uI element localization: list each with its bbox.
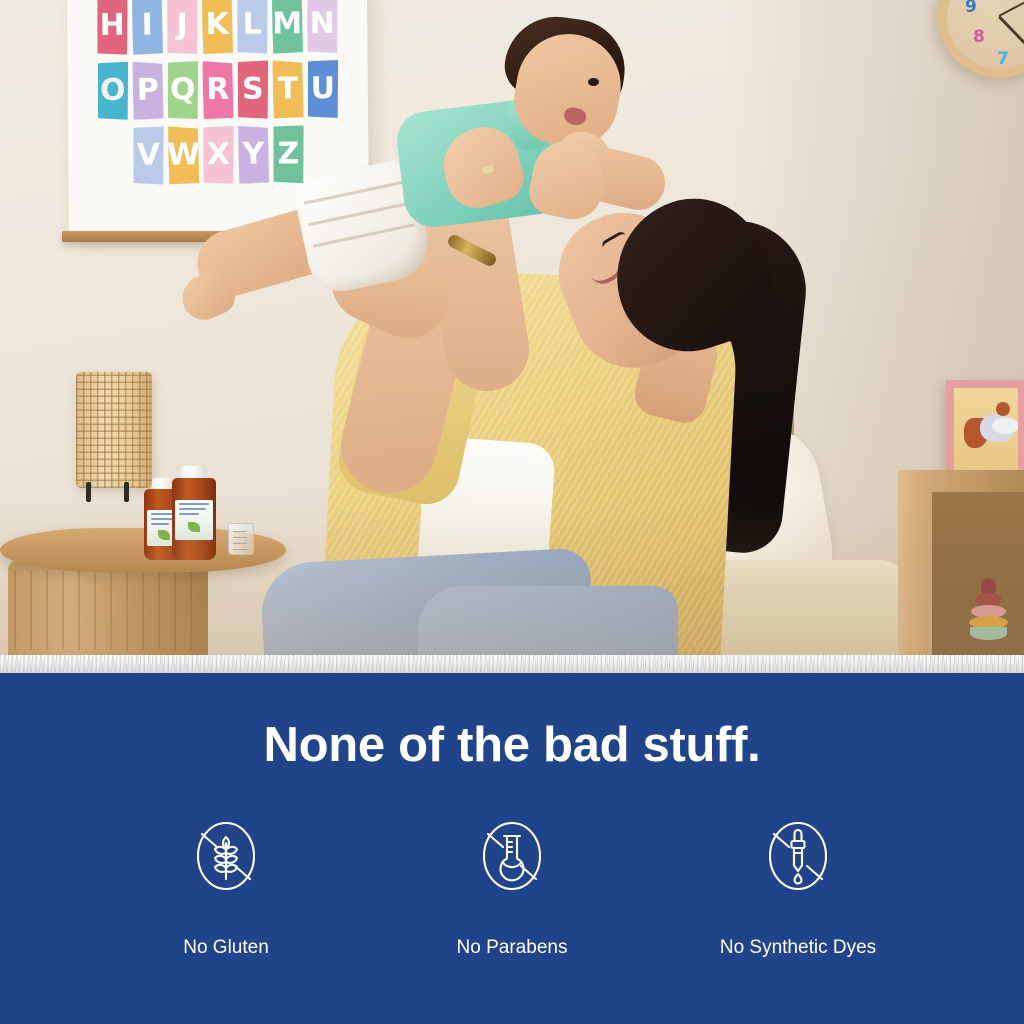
poster-letter-tile: J bbox=[167, 0, 199, 54]
poster-letter-tile: U bbox=[307, 60, 339, 118]
badge-label-no-synthetic-dyes: No Synthetic Dyes bbox=[720, 935, 876, 961]
clock-face: 109876 bbox=[947, 0, 1024, 69]
poster-letter-tile: N bbox=[307, 0, 339, 53]
poster-letter-tile: R bbox=[202, 61, 234, 119]
poster-letter-tile: Z bbox=[273, 125, 305, 183]
no-gluten-icon bbox=[187, 817, 265, 895]
poster-letter-tile: Y bbox=[238, 126, 270, 184]
textured-divider bbox=[0, 655, 1024, 673]
clock-number: 9 bbox=[965, 0, 977, 17]
baby-eye bbox=[588, 78, 599, 86]
poster-letter-tile: T bbox=[272, 60, 304, 118]
clock-number: 8 bbox=[973, 27, 985, 47]
poster-letter-tile: L bbox=[237, 0, 269, 54]
panel-headline: None of the bad stuff. bbox=[264, 717, 761, 773]
poster-letter-tile: P bbox=[132, 61, 164, 119]
poster-letter-tile: O bbox=[97, 62, 129, 120]
bird-picture-frame bbox=[946, 380, 1024, 480]
clock-minute-hand bbox=[999, 0, 1024, 17]
poster-letter-tile: M bbox=[272, 0, 304, 54]
bird-head-shape bbox=[996, 402, 1010, 416]
clock-hour-hand bbox=[998, 15, 1024, 49]
poster-letter-tile: K bbox=[202, 0, 234, 54]
badge-no-parabens: No Parabens bbox=[369, 817, 655, 961]
claims-badge-row: No Gluten No bbox=[0, 817, 1024, 961]
badge-no-synthetic-dyes: No Synthetic Dyes bbox=[655, 817, 941, 961]
badge-label-no-parabens: No Parabens bbox=[457, 935, 568, 961]
claims-panel: None of the bad stuff. bbox=[0, 673, 1024, 1024]
poster-letter-tile: Q bbox=[167, 61, 199, 119]
poster-letter-tile: H bbox=[97, 0, 129, 55]
poster-letter-tile: S bbox=[237, 61, 269, 119]
lifestyle-photo: HIJKLMN OPQRSTU VWXYZ 109876 bbox=[0, 0, 1024, 657]
badge-no-gluten: No Gluten bbox=[83, 817, 369, 961]
clock-number: 7 bbox=[997, 49, 1009, 69]
poster-letter-tile: I bbox=[132, 0, 164, 55]
no-synthetic-dyes-icon bbox=[759, 817, 837, 895]
poster-letter-tile: V bbox=[133, 126, 165, 184]
poster-row-1: HIJKLMN bbox=[77, 0, 357, 55]
rattan-table-lamp bbox=[76, 372, 152, 488]
no-parabens-icon bbox=[473, 817, 551, 895]
bird-wing-shape bbox=[992, 418, 1018, 434]
badge-label-no-gluten: No Gluten bbox=[183, 935, 269, 961]
bird-artwork bbox=[954, 388, 1018, 472]
poster-row-2: OPQRSTU bbox=[78, 60, 358, 120]
poster-letter-tile: X bbox=[203, 126, 235, 184]
promo-image: HIJKLMN OPQRSTU VWXYZ 109876 bbox=[0, 0, 1024, 1024]
poster-letter-tile: W bbox=[168, 126, 200, 184]
floor-shading bbox=[0, 497, 1024, 657]
